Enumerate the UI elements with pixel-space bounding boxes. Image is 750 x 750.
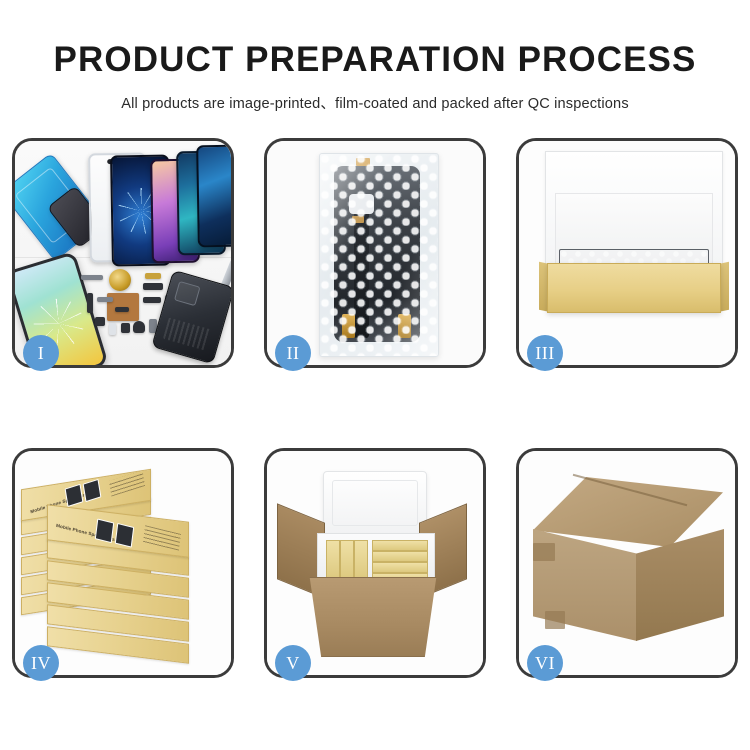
packed-yellow-box bbox=[340, 540, 354, 580]
shipping-carton-body bbox=[301, 577, 445, 657]
spare-part bbox=[115, 307, 129, 312]
scene-carton-with-foam bbox=[267, 451, 483, 675]
product-preparation-infographic: PRODUCT PREPARATION PROCESS All products… bbox=[0, 0, 750, 750]
process-step-2: II bbox=[264, 138, 486, 368]
plastic-sheen bbox=[320, 154, 438, 356]
step-badge-2: II bbox=[275, 335, 311, 371]
carton-right-face bbox=[636, 529, 724, 641]
page-title: PRODUCT PREPARATION PROCESS bbox=[0, 0, 750, 79]
step-3-image bbox=[519, 141, 735, 365]
spare-part bbox=[121, 323, 130, 333]
step-5-image bbox=[267, 451, 483, 675]
spare-part bbox=[87, 293, 93, 313]
carton-tape-tab bbox=[545, 611, 565, 629]
step-6-image bbox=[519, 451, 735, 675]
packed-yellow-box bbox=[354, 540, 368, 580]
blue-wave-phone bbox=[196, 145, 231, 248]
box-product-thumbnail bbox=[83, 479, 102, 502]
spare-part bbox=[95, 317, 105, 326]
box-product-thumbnail bbox=[65, 484, 84, 507]
scene-stacked-boxes: Mobile Phone Spare Parts Mobile Phone Sp… bbox=[15, 451, 231, 675]
box-bullet-lines bbox=[109, 470, 145, 496]
phone-back-housing bbox=[151, 270, 231, 365]
gold-coil-part bbox=[109, 269, 131, 291]
step-badge-5: V bbox=[275, 645, 311, 681]
packed-yellow-box bbox=[372, 551, 428, 562]
scene-phone-parts bbox=[15, 141, 231, 365]
yellow-box-body bbox=[547, 263, 721, 313]
process-step-grid: I II bbox=[12, 138, 738, 678]
carton-tape-tab bbox=[533, 543, 555, 561]
step-badge-3: III bbox=[527, 335, 563, 371]
box-bullet-lines bbox=[143, 525, 181, 550]
packed-yellow-box bbox=[326, 540, 340, 580]
box-product-thumbnail bbox=[95, 519, 114, 544]
process-step-6: VI bbox=[516, 448, 738, 678]
step-4-image: Mobile Phone Spare Parts Mobile Phone Sp… bbox=[15, 451, 231, 675]
packed-yellow-box bbox=[372, 540, 428, 551]
box-product-thumbnail bbox=[115, 523, 134, 548]
header: PRODUCT PREPARATION PROCESS All products… bbox=[0, 0, 750, 113]
spare-part bbox=[145, 273, 161, 279]
packed-yellow-box bbox=[372, 562, 428, 573]
scene-open-yellow-box bbox=[519, 141, 735, 365]
bubble-wrap-bag bbox=[319, 153, 439, 357]
step-badge-4: IV bbox=[23, 645, 59, 681]
spare-part bbox=[97, 297, 113, 302]
scene-bubble-wrapped-screen bbox=[267, 141, 483, 365]
step-badge-6: VI bbox=[527, 645, 563, 681]
spare-part bbox=[109, 323, 116, 335]
process-step-5: V bbox=[264, 448, 486, 678]
step-2-image bbox=[267, 141, 483, 365]
process-step-1: I bbox=[12, 138, 234, 368]
page-subtitle: All products are image-printed、film-coat… bbox=[0, 79, 750, 113]
process-step-4: Mobile Phone Spare Parts Mobile Phone Sp… bbox=[12, 448, 234, 678]
foam-box-lid bbox=[323, 471, 427, 535]
spare-part bbox=[143, 297, 161, 303]
scene-sealed-carton bbox=[519, 451, 735, 675]
spare-part bbox=[133, 321, 145, 333]
process-step-3: III bbox=[516, 138, 738, 368]
step-badge-1: I bbox=[23, 335, 59, 371]
step-1-image bbox=[15, 141, 231, 365]
spare-part bbox=[143, 283, 163, 290]
spare-part bbox=[81, 275, 103, 280]
